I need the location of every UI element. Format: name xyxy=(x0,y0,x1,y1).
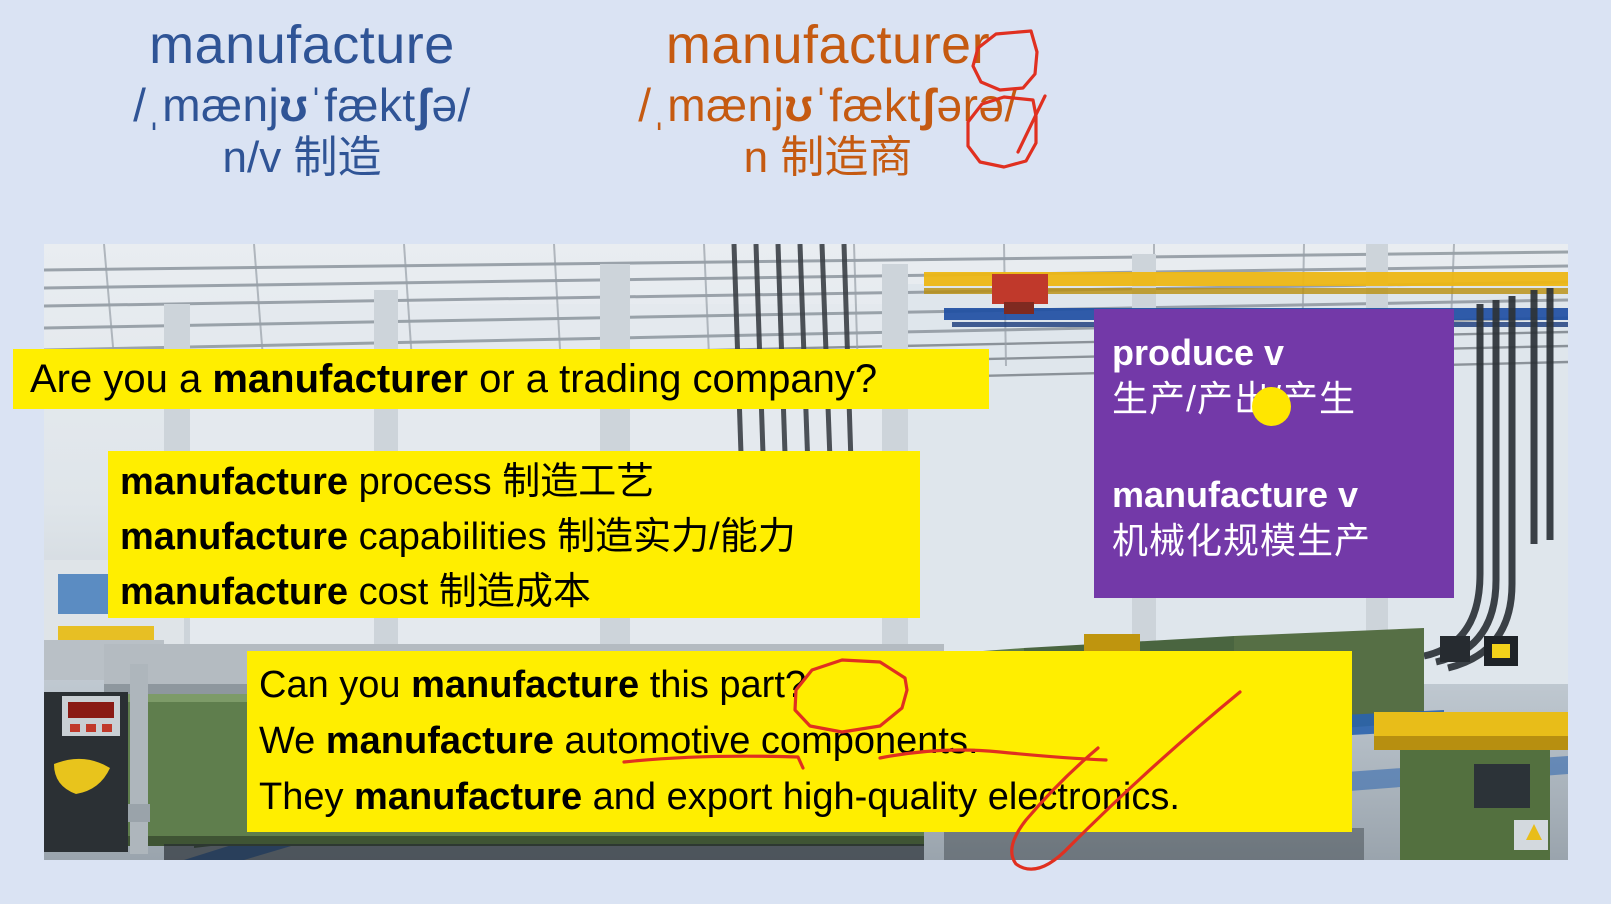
panel-entry1-headword: produce v xyxy=(1112,331,1454,375)
vocab-gloss-right: n 制造商 xyxy=(578,132,1078,184)
highlight-example-sentences: Can you manufacture this part? We manufa… xyxy=(247,651,1352,832)
vocab-word-right: manufacturer xyxy=(578,14,1078,78)
vocab-entry-manufacture: manufacture /ˌmænjʊˈfæktʃə/ n/v 制造 xyxy=(72,14,532,184)
vocab-ipa-left: /ˌmænjʊˈfæktʃə/ xyxy=(72,78,532,132)
question-text: Are you a manufacturer or a trading comp… xyxy=(30,357,877,401)
example-sentence: Can you manufacture this part? xyxy=(259,657,1352,713)
laser-pointer-dot xyxy=(1252,387,1291,426)
panel-entry2-headword: manufacture v xyxy=(1112,473,1454,517)
highlight-question-sentence: Are you a manufacturer or a trading comp… xyxy=(13,349,989,409)
vocab-word-left: manufacture xyxy=(72,14,532,78)
highlight-collocations: manufacture process 制造工艺 manufacture cap… xyxy=(108,451,920,618)
panel-spacer xyxy=(1112,423,1454,473)
collocation-line: manufacture capabilities 制造实力/能力 xyxy=(120,510,920,565)
panel-entry2-gloss: 机械化规模生产 xyxy=(1112,517,1454,565)
example-sentence: We manufacture automotive components. xyxy=(259,713,1352,769)
collocation-line: manufacture cost 制造成本 xyxy=(120,565,920,620)
slide-canvas: manufacture /ˌmænjʊˈfæktʃə/ n/v 制造 manuf… xyxy=(0,0,1611,904)
example-sentence: They manufacture and export high-quality… xyxy=(259,769,1352,825)
vocab-gloss-left: n/v 制造 xyxy=(72,132,532,184)
vocab-entry-manufacturer: manufacturer /ˌmænjʊˈfæktʃərə/ n 制造商 xyxy=(578,14,1078,184)
synonym-panel: produce v 生产/产出/产生 manufacture v 机械化规模生产 xyxy=(1094,309,1454,598)
collocation-line: manufacture process 制造工艺 xyxy=(120,455,920,510)
vocab-ipa-right: /ˌmænjʊˈfæktʃərə/ xyxy=(578,78,1078,132)
